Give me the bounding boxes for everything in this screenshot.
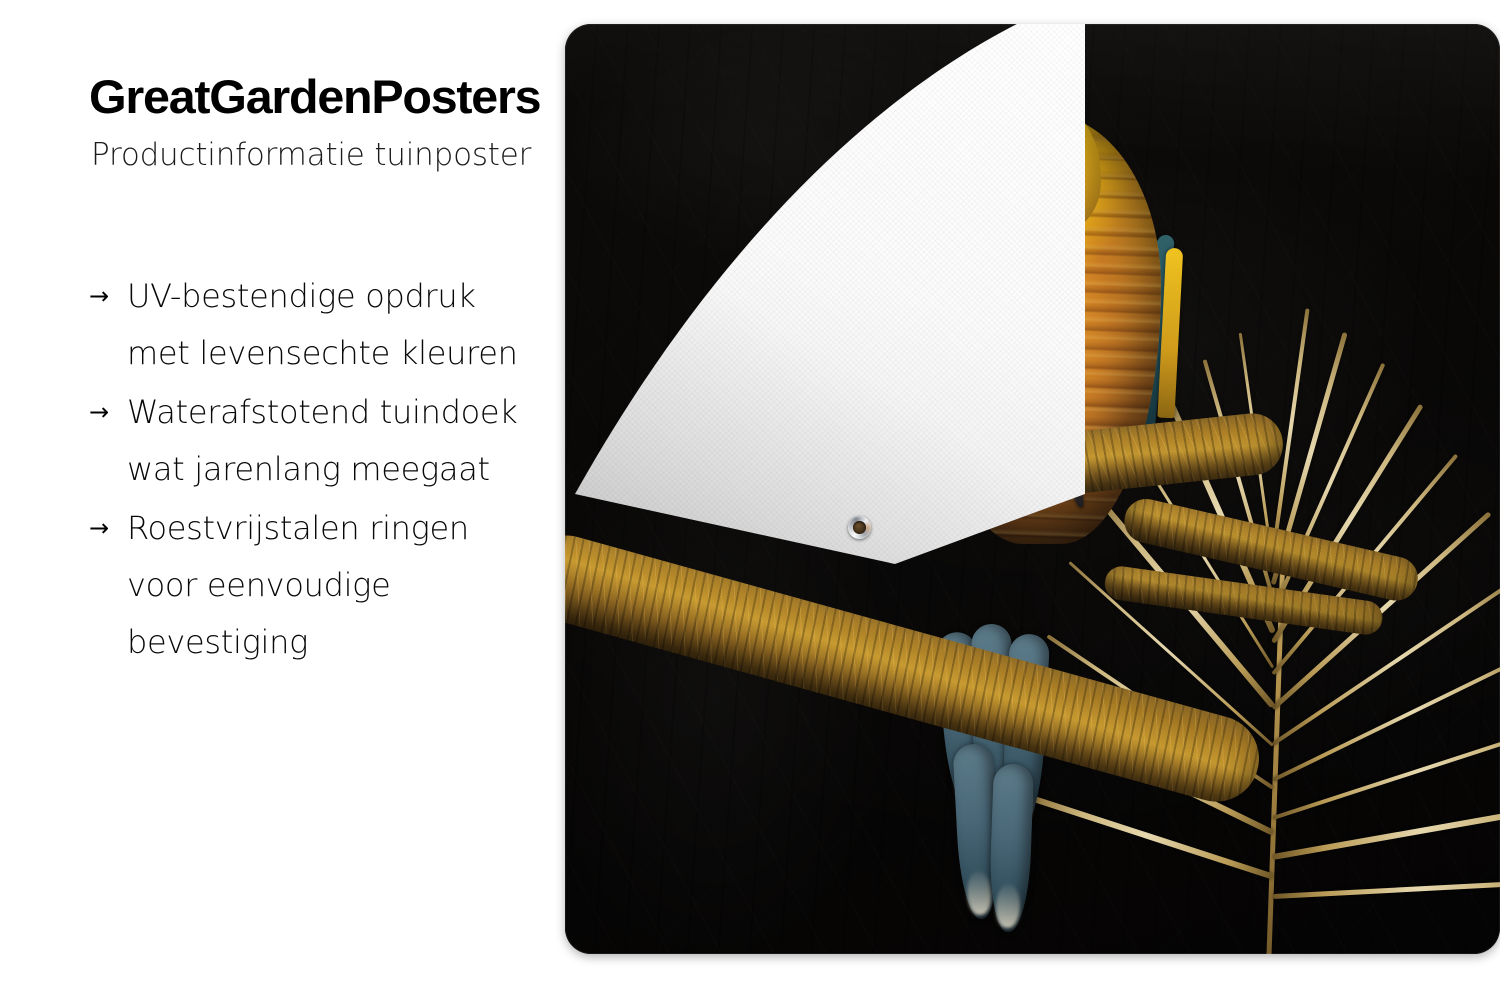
frond-leaflet xyxy=(1273,804,1500,860)
garden-poster xyxy=(565,24,1500,954)
parrot-head xyxy=(973,96,1101,236)
page-subtitle: Productinformatie tuinposter xyxy=(91,135,531,175)
brand-title: GreatGardenPosters xyxy=(89,69,540,125)
text-panel: GreatGardenPosters Productinformatie tui… xyxy=(0,0,660,1000)
product-image xyxy=(565,24,1500,954)
frond-leaflet xyxy=(1272,725,1500,820)
product-info-banner: GreatGardenPosters Productinformatie tui… xyxy=(0,0,1500,1000)
frond-leaflet xyxy=(1273,879,1500,898)
